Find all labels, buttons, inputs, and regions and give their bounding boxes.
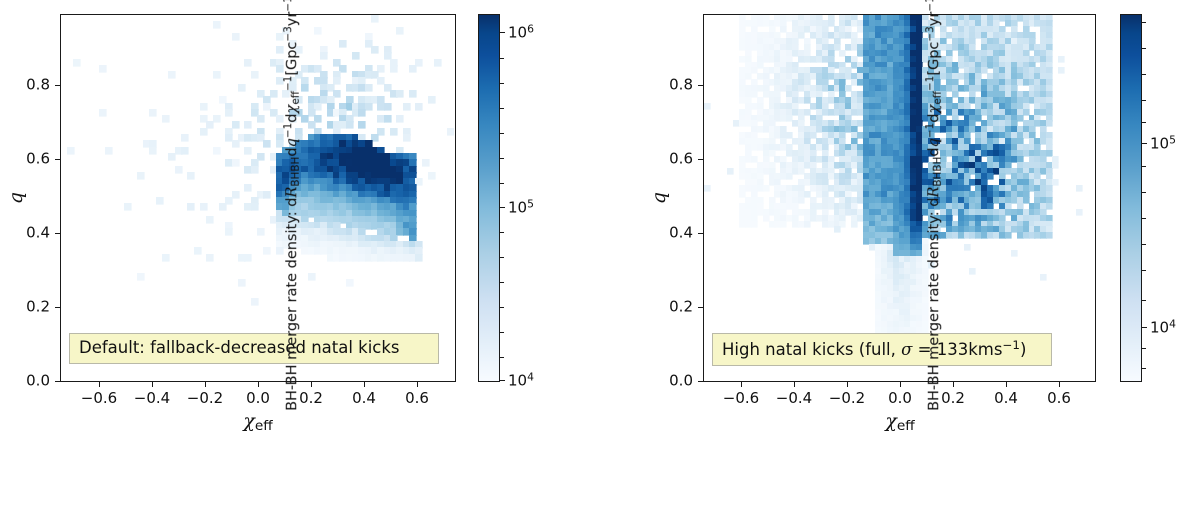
R-symbol: R: [284, 187, 300, 198]
xtick-mark: [311, 382, 312, 387]
q-exponent: −1: [282, 123, 294, 138]
ytick-mark: [55, 85, 60, 86]
plot-axes-right: [703, 14, 1096, 382]
ytick-label: 0.0: [14, 374, 50, 389]
colorbar-tick-minor: [1142, 74, 1146, 75]
colorbar-tick-major: [500, 380, 505, 381]
colorbar-tick-minor: [500, 232, 504, 233]
annotation-box-left: Default: fallback-decreased natal kicks: [69, 333, 439, 364]
yaxis-title-left: q: [5, 192, 27, 204]
xtick-label: −0.2: [829, 391, 865, 406]
colorbar-tick-minor: [500, 83, 504, 84]
ytick-mark: [55, 159, 60, 160]
colorbar-tick-minor: [500, 257, 504, 258]
xtick-label: 0.0: [246, 391, 270, 406]
R-subscript: BHBH: [290, 157, 302, 187]
annot-prefix: High natal kicks (full,: [722, 340, 901, 359]
colorbar-right: [1120, 14, 1142, 382]
q-symbol: q: [648, 192, 670, 204]
xtick-label: 0.0: [888, 391, 912, 406]
colorbar-tick-major: [500, 32, 505, 33]
colorbar-ticklabel: 105: [1150, 133, 1176, 152]
q-symbol: q: [5, 192, 27, 204]
colorbar-tick-minor: [500, 183, 504, 184]
ytick-label: 0.4: [14, 226, 50, 241]
dq-prefix: d: [284, 147, 300, 156]
chi-subscript: eff: [255, 418, 273, 434]
ytick-mark: [698, 159, 703, 160]
q-symbol: q: [926, 138, 942, 147]
ytick-label: 0.8: [657, 78, 693, 93]
chi-symbol: χ: [926, 105, 942, 114]
dq-prefix: d: [926, 147, 942, 156]
q-exponent: −1: [924, 123, 936, 138]
colorbar-tick-minor: [500, 332, 504, 333]
ytick-label: 0.4: [657, 226, 693, 241]
exponent: 5: [527, 197, 534, 210]
ytick-label: 0.8: [14, 78, 50, 93]
colorbar-ticklabel: 104: [508, 370, 534, 389]
annotation-box-right: High natal kicks (full, σ = 133kms−1): [712, 333, 1052, 366]
xtick-mark: [152, 382, 153, 387]
ytick-label: 0.0: [657, 374, 693, 389]
chi-symbol: χ: [284, 105, 300, 114]
ytick-mark: [698, 307, 703, 308]
q-symbol: q: [284, 138, 300, 147]
annot-exponent: −1: [1002, 338, 1020, 352]
xtick-label: −0.2: [187, 391, 223, 406]
units-exponent-1: −3: [924, 26, 936, 41]
chi-exponent: −1: [924, 76, 936, 91]
colorbar-tick-minor: [1142, 348, 1146, 349]
exponent: 4: [1169, 317, 1176, 330]
ytick-mark: [698, 381, 703, 382]
xtick-mark: [794, 382, 795, 387]
xtick-mark: [900, 382, 901, 387]
colorbar-tick-minor: [500, 108, 504, 109]
xtick-mark: [417, 382, 418, 387]
xtick-mark: [741, 382, 742, 387]
heatmap-left: [61, 15, 454, 380]
R-subscript: BHBH: [932, 157, 944, 187]
xtick-label: −0.6: [81, 391, 117, 406]
colorbar-tick-minor: [500, 282, 504, 283]
xtick-label: 0.2: [941, 391, 965, 406]
dchi-prefix: d: [926, 113, 942, 122]
units-yr: yr: [284, 12, 300, 27]
xtick-label: 0.6: [1047, 391, 1071, 406]
colorbar-tick-minor: [1142, 244, 1146, 245]
colorbar-tick-minor: [1142, 122, 1146, 123]
xtick-mark: [953, 382, 954, 387]
units-exponent-1: −3: [282, 26, 294, 41]
dchi-prefix: d: [284, 113, 300, 122]
xtick-mark: [205, 382, 206, 387]
xtick-mark: [258, 382, 259, 387]
colorbar-tick-minor: [1142, 22, 1146, 23]
colorbar-tick-minor: [1142, 368, 1146, 369]
colorbar-tick-minor: [500, 357, 504, 358]
exponent: 6: [527, 22, 534, 35]
xtick-label: 0.2: [299, 391, 323, 406]
colorbar-ticklabel: 106: [508, 22, 534, 41]
ytick-label: 0.2: [657, 300, 693, 315]
colorbar-tick-minor: [1142, 218, 1146, 219]
ytick-label: 0.6: [657, 152, 693, 167]
colorbar-title-right: BH-BH merger rate density: dRBHBHdq−1dχe…: [924, 0, 944, 521]
exponent: 4: [527, 370, 534, 383]
xtick-label: 0.4: [994, 391, 1018, 406]
colorbar-tick-minor: [1142, 166, 1146, 167]
ytick-mark: [698, 233, 703, 234]
cbtitle-prefix: BH-BH merger rate density: d: [284, 198, 300, 411]
chi-symbol: χ: [243, 410, 255, 432]
colorbar-tick-major: [1142, 327, 1147, 328]
colorbar-tick-major: [1142, 143, 1147, 144]
chi-subscript: eff: [932, 91, 944, 105]
sigma-symbol: σ: [901, 340, 912, 359]
plot-axes-left: [60, 14, 456, 382]
colorbar-tick-minor: [1142, 192, 1146, 193]
xtick-mark: [99, 382, 100, 387]
panel-left: −0.6 −0.4 −0.2 0.0 0.2 0.4 0.6 0.0 0.2 0…: [0, 0, 600, 436]
ytick-mark: [55, 307, 60, 308]
cbtitle-prefix: BH-BH merger rate density: d: [926, 198, 942, 411]
xtick-mark: [1006, 382, 1007, 387]
xtick-label: −0.4: [134, 391, 170, 406]
colorbar-tick-minor: [1142, 100, 1146, 101]
units-exponent-2: −1: [282, 0, 294, 12]
colorbar-tick-minor: [1142, 48, 1146, 49]
ytick-label: 0.2: [14, 300, 50, 315]
colorbar-tick-minor: [1142, 300, 1146, 301]
chi-subscript: eff: [290, 91, 302, 105]
yaxis-title-right: q: [648, 192, 670, 204]
xtick-label: −0.6: [723, 391, 759, 406]
xtick-mark: [364, 382, 365, 387]
units-open: [Gpc: [284, 42, 300, 76]
colorbar-tick-minor: [1142, 270, 1146, 271]
annot-close: ): [1020, 340, 1026, 359]
colorbar-ticklabel: 104: [1150, 317, 1176, 336]
xtick-label: −0.4: [776, 391, 812, 406]
colorbar-left: [478, 14, 500, 382]
figure-canvas: −0.6 −0.4 −0.2 0.0 0.2 0.4 0.6 0.0 0.2 0…: [0, 0, 1200, 436]
xaxis-title-left: χeff: [243, 410, 272, 434]
colorbar-tick-minor: [500, 133, 504, 134]
xaxis-title-right: χeff: [885, 410, 914, 434]
colorbar-ticklabel: 105: [508, 197, 534, 216]
colorbar-tick-minor: [500, 158, 504, 159]
exponent: 5: [1169, 133, 1176, 146]
xtick-label: 0.4: [352, 391, 376, 406]
colorbar-tick-minor: [500, 58, 504, 59]
colorbar-tick-major: [500, 207, 505, 208]
colorbar-tick-minor: [500, 307, 504, 308]
ytick-mark: [698, 85, 703, 86]
xtick-mark: [1059, 382, 1060, 387]
chi-subscript: eff: [897, 418, 915, 434]
ytick-label: 0.6: [14, 152, 50, 167]
heatmap-right: [704, 15, 1094, 380]
xtick-mark: [847, 382, 848, 387]
panel-right: −0.6 −0.4 −0.2 0.0 0.2 0.4 0.6 0.0 0.2 0…: [600, 0, 1200, 436]
ytick-mark: [55, 233, 60, 234]
ytick-mark: [55, 381, 60, 382]
colorbar-title-left: BH-BH merger rate density: dRBHBHdq−1dχe…: [282, 0, 302, 521]
units-exponent-2: −1: [924, 0, 936, 12]
units-open: [Gpc: [926, 42, 942, 76]
R-symbol: R: [926, 187, 942, 198]
units-yr: yr: [926, 12, 942, 27]
chi-exponent: −1: [282, 76, 294, 91]
chi-symbol: χ: [885, 410, 897, 432]
xtick-label: 0.6: [405, 391, 429, 406]
